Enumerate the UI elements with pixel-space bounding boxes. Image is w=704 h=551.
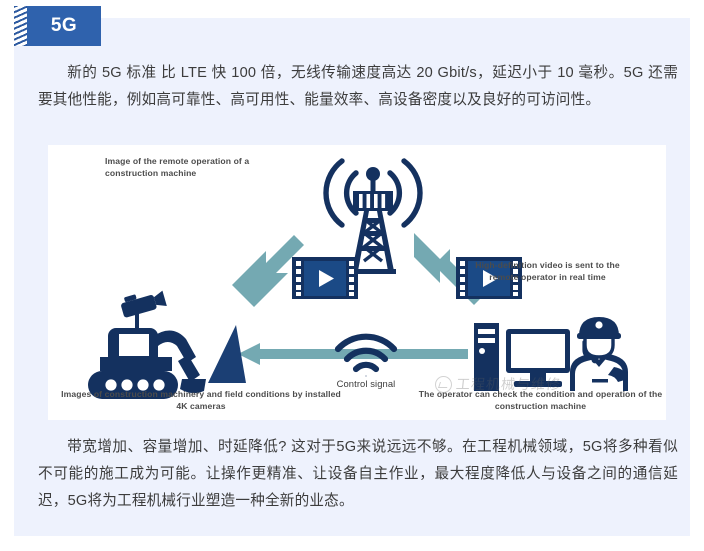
badge-stripes-decoration: [14, 6, 27, 46]
header-badge: 5G: [14, 6, 101, 46]
label-remote-operation-image: Image of the remote operation of a const…: [105, 155, 285, 179]
conclusion-paragraph: 带宽增加、容量增加、时延降低? 这对于5G来说远远不够。在工程机械领域，5G将多…: [38, 434, 678, 515]
film-play-icon-left: [292, 257, 358, 299]
excavator-with-camera-icon: [88, 287, 246, 399]
label-operator-check: The operator can check the condition and…: [418, 388, 663, 412]
operator-workstation-icon: [474, 317, 628, 391]
badge-label: 5G: [27, 6, 101, 46]
diagram-card: Image of the remote operation of a const…: [48, 145, 666, 420]
label-4k-cameras: Images of construction machinery and fie…: [56, 388, 346, 412]
intro-paragraph: 新的 5G 标准 比 LTE 快 100 倍，无线传输速度高达 20 Gbit/…: [38, 60, 678, 114]
label-hd-video: High-definition video is sent to the rem…: [460, 259, 635, 283]
label-control-signal: Control signal: [306, 378, 426, 390]
